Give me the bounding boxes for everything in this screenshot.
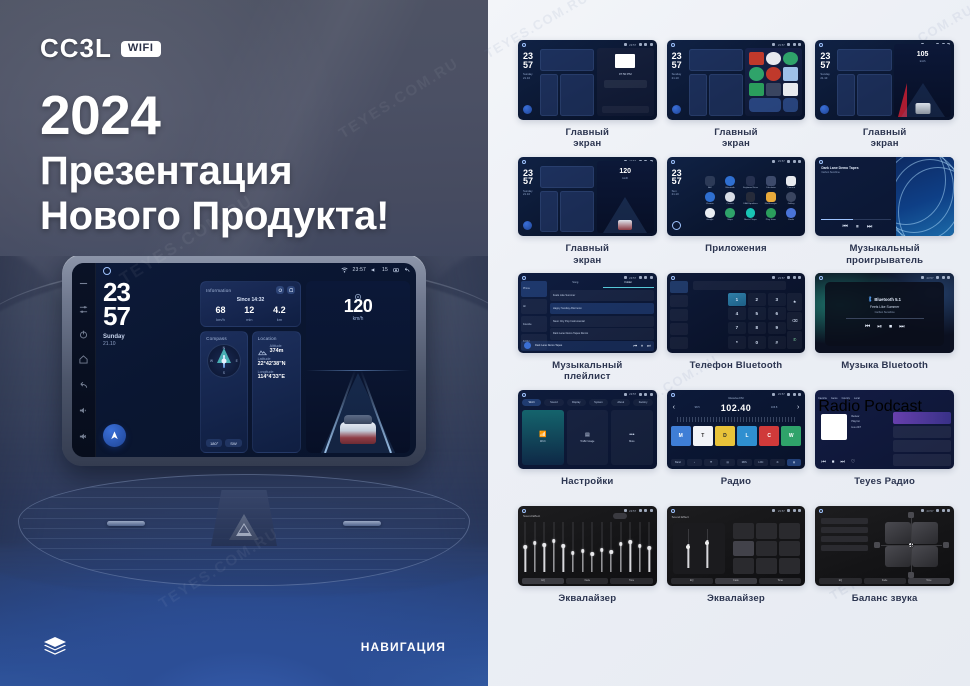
radio-bottom-bar[interactable]: Band ⌕ ☰ ▤ RDS LOC ⚙ ▦ xyxy=(671,459,802,466)
sidebar-item-favorite[interactable]: Favorite xyxy=(521,316,547,332)
home-circle-icon xyxy=(819,509,823,513)
app-tile[interactable]: FileManager xyxy=(762,192,780,205)
teyes-radio-controls[interactable]: ⏮ ⏹ ⏭ ♡ xyxy=(821,459,855,465)
eq-preset-label: Sound Effect xyxy=(672,515,689,519)
thumbnail-home-adas[interactable]: 23:57 2357 Sunday21.10 120 km/h xyxy=(518,157,657,237)
gallery-item[interactable]: 23:57 Sound Effect xyxy=(667,506,806,617)
list-item[interactable] xyxy=(893,412,951,424)
bottom-bar-button[interactable]: Band xyxy=(671,459,686,466)
thumbnail-home-adas-red[interactable]: 23:57 2357 Sunday21.10 105 km/h xyxy=(815,40,954,120)
list-icon[interactable]: ☰ xyxy=(704,459,719,466)
location-card[interactable] xyxy=(560,191,594,233)
settings-slider-icon[interactable] xyxy=(79,305,88,314)
layers-icon[interactable] xyxy=(42,636,68,658)
eq-preset-button[interactable] xyxy=(779,523,800,539)
location-card[interactable]: Location Altitude 374m xyxy=(252,331,301,454)
eq-preset-button[interactable] xyxy=(779,558,800,574)
app-shortcut[interactable] xyxy=(749,83,764,96)
list-item[interactable] xyxy=(893,426,951,438)
eq-preset-button[interactable] xyxy=(779,541,800,557)
app-tile[interactable]: Music Player xyxy=(741,208,759,221)
bluetooth-icon xyxy=(868,296,872,303)
app-label: Gallery xyxy=(788,203,795,205)
settings-card-label: Wi-Fi xyxy=(540,440,546,443)
tab-sound[interactable]: Sound xyxy=(544,399,563,406)
thumbnail-apps[interactable]: 23:57 2357 Sun21.10 AM Bluetooth Keyboar… xyxy=(667,157,806,237)
eq-preset-label: Sound Effect xyxy=(523,514,540,518)
eq-band-slider[interactable] xyxy=(581,522,584,572)
navigation-fab-button[interactable] xyxy=(820,105,829,114)
tab-eq[interactable]: EQ xyxy=(522,578,564,584)
search-icon[interactable]: ⌕ xyxy=(687,459,702,466)
settings-card-label: Traffic Usage xyxy=(580,440,594,443)
station-list[interactable] xyxy=(893,412,951,467)
app-shortcut[interactable] xyxy=(766,67,781,80)
clock-hours-minutes: 2357 xyxy=(672,169,682,186)
altitude-label: Altitude xyxy=(270,344,284,348)
radio-preset[interactable]: D xyxy=(715,426,735,446)
vent-slider-left[interactable] xyxy=(107,521,145,526)
dialpad-key[interactable]: 8 xyxy=(748,322,766,335)
eq-preset-button[interactable] xyxy=(733,541,754,557)
eq-band-slider[interactable] xyxy=(610,522,613,572)
balance-preset-left[interactable] xyxy=(821,536,868,542)
home-icon[interactable] xyxy=(79,355,88,364)
station-meta: Review Play list Live 24/7 xyxy=(851,415,887,429)
compass-heading: 180° xyxy=(206,439,222,447)
gallery-item[interactable]: Favorite Genre Country Local Radio Podca… xyxy=(815,390,954,501)
tab-eq[interactable]: EQ xyxy=(819,578,861,584)
album-art xyxy=(524,342,531,349)
compass-n: N xyxy=(223,346,225,350)
sidebar-item-settings[interactable] xyxy=(670,337,688,349)
next-track-icon[interactable]: ⏭ xyxy=(899,324,904,331)
compass-s: S xyxy=(223,371,225,375)
compass-card[interactable] xyxy=(689,74,707,116)
equalizer-tabs[interactable]: EQ Fade Tone xyxy=(522,578,653,584)
bt-song-title: Feels Like Summer xyxy=(870,305,899,309)
volume-icon xyxy=(371,267,377,273)
backspace-icon[interactable]: ⌫ xyxy=(787,312,802,330)
balance-presets[interactable] xyxy=(821,518,868,551)
app-label: AM xyxy=(708,187,711,189)
eq-band-slider[interactable] xyxy=(562,522,565,572)
playlist-now-playing-bar[interactable]: Dark Lane Demo Tapes ⏮ ⏸ ⏭ xyxy=(521,341,654,351)
clock-minutes: 57 xyxy=(103,305,195,329)
trip-stat: 4.2 km xyxy=(273,306,286,322)
star-icon[interactable]: ★ xyxy=(787,293,802,311)
navigation-fab-button[interactable] xyxy=(523,105,532,114)
thumbnail-radio[interactable]: 23:57 Receive FM ‹ 102.40 › 98.5 106.8 M… xyxy=(667,390,806,470)
dialpad-key[interactable]: 5 xyxy=(748,307,766,320)
compass-card[interactable] xyxy=(540,74,558,116)
playlist-rows[interactable]: Feels Like Summer Happy Sunday Afternoon… xyxy=(550,290,654,340)
app-shortcut[interactable] xyxy=(749,52,764,65)
thumbnail-bt-music[interactable]: 23:57 Bluetooth 5.1 Feels Like Summer Ca… xyxy=(815,273,954,353)
thumbnail-settings[interactable]: 23:57 Wi-Fi Sound Display System About F… xyxy=(518,390,657,470)
stop-icon[interactable]: ⏹ xyxy=(889,324,892,331)
car-dashboard-illustration: 23:57 15 xyxy=(0,256,488,686)
app-tile[interactable]: Maps xyxy=(721,208,739,221)
app-tile[interactable]: Radio xyxy=(782,208,800,221)
volume-down-icon[interactable] xyxy=(79,406,88,415)
app-tile[interactable]: AM xyxy=(701,176,719,189)
back-arrow-icon[interactable] xyxy=(404,267,410,273)
rds-icon[interactable]: RDS xyxy=(737,459,752,466)
volume-up-icon[interactable] xyxy=(79,432,88,441)
thumbnail-bt-phone[interactable]: 23:57 1 2 3 4 5 6 xyxy=(667,273,806,353)
thumbnail-music-player[interactable]: 23:57 Dark Lane Demo Tapes Carbon Sunshi… xyxy=(815,157,954,237)
gallery-item[interactable]: 23:57 2357 Sun21.10 AM Bluetooth Keyboar… xyxy=(667,157,806,268)
tab-fade[interactable]: Fade xyxy=(566,578,608,584)
tab-tone[interactable]: Tone xyxy=(908,578,950,584)
tab-eq[interactable]: EQ xyxy=(671,578,713,584)
information-card[interactable] xyxy=(540,166,594,188)
sidebar-item-phone[interactable]: Phone xyxy=(521,281,547,297)
gallery-item[interactable]: 23:57 Receive FM ‹ 102.40 › 98.5 106.8 M… xyxy=(667,390,806,501)
speaker-front-left xyxy=(885,522,912,543)
balance-up-button[interactable] xyxy=(908,512,914,518)
adas-car-graphic xyxy=(618,220,632,230)
adas-horizon xyxy=(306,370,410,371)
gallery-item[interactable]: 23:57 Sound Effect xyxy=(518,506,657,617)
player-controls[interactable]: ⏮ ⏸ ⏭ xyxy=(821,224,893,231)
bt-song-artist: Carbon Sunshine xyxy=(875,311,895,314)
app-tile[interactable]: Contact xyxy=(721,192,739,205)
location-card[interactable] xyxy=(857,74,891,116)
information-card[interactable] xyxy=(540,49,594,71)
app-tile[interactable]: Keyboard Drive xyxy=(741,176,759,189)
eq-band-slider[interactable] xyxy=(619,522,622,572)
dialpad[interactable]: 1 2 3 4 5 6 7 8 9 * 0 # xyxy=(728,293,786,349)
settings-card-more[interactable]: ••• More xyxy=(611,410,653,466)
dialpad-key[interactable]: 6 xyxy=(768,307,786,320)
equalizer-sliders[interactable] xyxy=(524,522,651,572)
previous-track-icon[interactable]: ⏮ xyxy=(633,343,637,348)
app-shortcuts-panel[interactable] xyxy=(745,48,802,116)
bt-transport-controls[interactable]: ⏮ ⏯ ⏹ ⏭ xyxy=(865,324,905,331)
eq-preset-button[interactable] xyxy=(733,558,754,574)
bt-progress-bar[interactable] xyxy=(846,318,924,319)
dialpad-key[interactable]: 9 xyxy=(768,322,786,335)
app-shortcut[interactable] xyxy=(749,67,764,80)
tab-fade[interactable]: Fade xyxy=(864,578,906,584)
adas-widget[interactable]: 105 km/h xyxy=(894,44,951,117)
app-label: Calculator xyxy=(766,187,776,189)
back-icon[interactable] xyxy=(672,221,681,230)
gallery-item[interactable]: 23:57 2357 Sunday21.10 105 km/h Гл xyxy=(815,40,954,151)
app-label: Keyboard Drive xyxy=(743,187,758,189)
app-tile[interactable]: Play Store xyxy=(762,208,780,221)
eq-icon[interactable]: ▤ xyxy=(720,459,735,466)
app-tile[interactable]: Google xyxy=(701,208,719,221)
radio-preset[interactable]: M xyxy=(671,426,691,446)
app-tile[interactable]: Calculator xyxy=(762,176,780,189)
information-card[interactable] xyxy=(837,49,891,71)
thumbnail-teyes-radio[interactable]: Favorite Genre Country Local Radio Podca… xyxy=(815,390,954,470)
settings-card-traffic[interactable]: ▤ Traffic Usage xyxy=(567,410,609,466)
minus-icon[interactable] xyxy=(79,279,88,288)
app-shortcut[interactable] xyxy=(783,67,798,80)
back-icon[interactable] xyxy=(79,381,88,390)
tab-system[interactable]: System xyxy=(589,399,608,406)
balance-tabs[interactable]: EQ Fade Tone xyxy=(819,578,950,584)
phone-number-field[interactable] xyxy=(693,281,786,290)
radio-presets[interactable]: M T D L C W xyxy=(671,426,802,446)
list-item[interactable]: Happy Sunday Afternoon xyxy=(550,303,654,314)
list-item[interactable] xyxy=(893,454,951,466)
volume-value: 15 xyxy=(382,267,388,273)
adas-widget[interactable]: 120 km/h xyxy=(306,281,410,453)
traffic-icon: ▤ xyxy=(585,432,590,438)
equalizer-tabs[interactable]: EQ Fade Tone xyxy=(671,578,802,584)
eq-band-slider[interactable] xyxy=(600,522,603,572)
app-shortcut[interactable] xyxy=(783,83,798,96)
eq-band-slider[interactable] xyxy=(543,522,546,572)
subtab-radio[interactable]: Radio xyxy=(818,398,860,416)
media-controls[interactable] xyxy=(604,80,647,88)
head-unit-screen[interactable]: 23:57 15 xyxy=(72,263,416,457)
sidebar-item-contacts[interactable] xyxy=(670,295,688,307)
navigation-label: НАВИГАЦИЯ xyxy=(361,640,446,654)
eq-band-slider[interactable] xyxy=(524,522,527,572)
settings-cards[interactable]: 📶 Wi-Fi ▤ Traffic Usage ••• More xyxy=(522,410,653,466)
app-shortcut[interactable] xyxy=(766,52,781,65)
media-card[interactable]: 07:50 PM xyxy=(597,48,654,116)
compass-w: W xyxy=(210,359,213,363)
list-item[interactable] xyxy=(893,440,951,452)
gallery-item[interactable]: 23:57 2357 Sunday21.10 xyxy=(667,40,806,151)
sidebar-item-all[interactable]: All xyxy=(521,299,547,315)
playlist-sidebar[interactable]: Phone All Favorite Folder xyxy=(521,281,547,350)
settings-icon[interactable]: ⚙ xyxy=(770,459,785,466)
stop-icon[interactable]: ⏹ xyxy=(832,459,835,465)
mini-status-bar: 23:57 xyxy=(772,276,801,280)
information-card[interactable]: Information Since 14:32 xyxy=(200,281,301,327)
eq-band-slider[interactable] xyxy=(591,522,594,572)
balance-pad-area[interactable] xyxy=(881,518,942,572)
next-track-icon[interactable]: ⏭ xyxy=(840,459,845,465)
gallery-item[interactable]: 23:57 Dark Lane Demo Tapes Carbon Sunshi… xyxy=(815,157,954,268)
balance-right-button[interactable] xyxy=(943,542,949,548)
headline-year: 2024 xyxy=(40,88,389,143)
vent-slider-right[interactable] xyxy=(343,521,381,526)
app-label: FileManager xyxy=(765,203,777,205)
eq-toggle[interactable] xyxy=(613,513,627,519)
dialpad-key[interactable]: 2 xyxy=(748,293,766,306)
clock-widget: 23 57 Sunday 21.10 xyxy=(103,281,195,453)
thumbnail-home-apps[interactable]: 23:57 2357 Sunday21.10 xyxy=(667,40,806,120)
app-tile[interactable]: Chrome xyxy=(701,192,719,205)
eq-band-slider[interactable] xyxy=(639,522,642,572)
list-item[interactable]: Dark Lane Demo Tapes Remix xyxy=(550,328,654,339)
tab-factory[interactable]: Factory xyxy=(633,399,652,406)
tab-wifi[interactable]: Wi-Fi xyxy=(522,399,541,406)
navigation-arrow-icon xyxy=(109,430,120,441)
favorite-icon[interactable]: ♡ xyxy=(851,459,855,465)
eq-preset-grid[interactable] xyxy=(733,523,800,574)
gallery-caption: Телефон Bluetooth xyxy=(690,360,783,384)
tab-tone[interactable]: Tone xyxy=(610,578,652,584)
play-pause-icon[interactable]: ⏯ xyxy=(877,324,882,331)
eq-preset-button[interactable] xyxy=(756,523,777,539)
product-logo: CC3L WIFI xyxy=(40,33,161,64)
radio-preset[interactable]: W xyxy=(781,426,801,446)
next-track-icon[interactable]: ⏭ xyxy=(647,343,651,348)
head-unit-bezel: 23:57 15 xyxy=(62,256,426,466)
next-station-button[interactable]: › xyxy=(797,404,799,411)
compass-card[interactable] xyxy=(837,74,855,116)
gallery-item[interactable]: 23:57 Bluetooth 5.1 Feels Like Summer Ca… xyxy=(815,273,954,384)
gallery-caption: Teyes Радио xyxy=(854,476,915,500)
app-tile[interactable]: Gallery xyxy=(782,192,800,205)
app-tile[interactable]: Bluetooth xyxy=(721,176,739,189)
dialpad-key[interactable]: 3 xyxy=(768,293,786,306)
app-shortcut[interactable] xyxy=(783,98,798,111)
longitude-value: 114°4'33"E xyxy=(258,374,295,380)
list-item[interactable]: Neon City Pop Instrumental xyxy=(550,316,654,327)
media-bottom-bar[interactable] xyxy=(602,106,649,113)
player-progress-bar[interactable] xyxy=(821,219,890,220)
compass-card[interactable]: Compass N E S W xyxy=(200,331,248,454)
play-pause-icon[interactable]: ⏸ xyxy=(641,343,643,348)
adas-icon xyxy=(354,288,362,296)
dialpad-key[interactable]: # xyxy=(768,336,786,349)
eq-band-slider[interactable] xyxy=(629,522,632,572)
balance-preset-front[interactable] xyxy=(821,518,868,524)
head-unit-status-bar: 23:57 15 xyxy=(341,267,410,273)
balance-axis-v xyxy=(911,518,912,572)
eq-preset-button[interactable] xyxy=(756,541,777,557)
app-label: Play Store xyxy=(766,219,776,221)
gallery-item[interactable]: 23:57 1 2 3 4 5 6 xyxy=(667,273,806,384)
call-icon[interactable]: ✆ xyxy=(787,331,802,349)
mini-status-bar: 23:57 xyxy=(921,276,950,280)
location-card[interactable] xyxy=(709,74,743,116)
balance-left-button[interactable] xyxy=(874,542,880,548)
eq-band-slider[interactable] xyxy=(648,522,651,572)
home-circle-icon[interactable] xyxy=(103,267,111,275)
eq-band-slider[interactable] xyxy=(553,522,556,572)
dialpad-key[interactable]: 4 xyxy=(728,307,746,320)
mini-status-bar: 23:57 xyxy=(772,43,801,47)
clock-hours-minutes: 2357 xyxy=(672,52,682,69)
thumbnail-equalizer-simple[interactable]: 23:57 Sound Effect xyxy=(667,506,806,586)
navigation-fab-button[interactable] xyxy=(523,221,532,230)
compass-card[interactable] xyxy=(540,191,558,233)
balance-preset-right[interactable] xyxy=(821,545,868,551)
eq-preset-button[interactable] xyxy=(733,523,754,539)
thumbnail-equalizer-bars[interactable]: 23:57 Sound Effect xyxy=(518,506,657,586)
loc-icon[interactable]: LOC xyxy=(754,459,769,466)
speaker-rear-right xyxy=(912,546,939,567)
gallery-item[interactable]: 23:57 Wi-Fi Sound Display System About F… xyxy=(518,390,657,501)
tab-fade[interactable]: Fade xyxy=(715,578,757,584)
altitude-value: 374m xyxy=(270,348,284,354)
clock-subtext: Sunday21.10 xyxy=(820,73,830,80)
gallery-caption: Главный экран xyxy=(566,127,610,151)
navigation-fab-button[interactable] xyxy=(672,105,681,114)
head-unit-side-rail[interactable] xyxy=(72,263,96,457)
radio-tuning-scale[interactable] xyxy=(677,417,796,422)
balance-preset-rear[interactable] xyxy=(821,527,868,533)
information-card[interactable] xyxy=(689,49,743,71)
eq-preset-button[interactable] xyxy=(756,558,777,574)
teyes-radio-subtabs[interactable]: Radio Podcast xyxy=(818,404,951,410)
previous-track-icon[interactable]: ⏮ xyxy=(865,324,870,331)
dialpad-key[interactable]: 0 xyxy=(748,336,766,349)
gallery-item[interactable]: 23:57 xyxy=(815,506,954,617)
location-card[interactable] xyxy=(560,74,594,116)
gallery-caption: Главный экран xyxy=(714,127,758,151)
thumbnail-playlist[interactable]: 23:57 Phone All Favorite Folder Song Fol… xyxy=(518,273,657,353)
adas-speed-unit: km/h xyxy=(894,60,951,63)
tab-about[interactable]: About xyxy=(611,399,630,406)
dialpad-key[interactable]: 1 xyxy=(728,293,746,306)
tab-tone[interactable]: Tone xyxy=(759,578,801,584)
settings-card-wifi[interactable]: 📶 Wi-Fi xyxy=(522,410,564,466)
gallery-item[interactable]: 23:57 2357 Sunday21.10 120 km/h Главный … xyxy=(518,157,657,268)
gallery-item[interactable]: 23:57 Phone All Favorite Folder Song Fol… xyxy=(518,273,657,384)
expand-icon[interactable] xyxy=(287,286,295,294)
radio-preset[interactable]: T xyxy=(693,426,713,446)
list-item[interactable]: Feels Like Summer xyxy=(550,290,654,301)
app-tile[interactable]: DAB Equalizer xyxy=(741,192,759,205)
thumbnail-home-media[interactable]: 23:57 2357 Sunday21.10 07:50 PM xyxy=(518,40,657,120)
tab-folder[interactable]: Folder xyxy=(603,281,654,288)
settings-tabs[interactable]: Wi-Fi Sound Display System About Factory xyxy=(522,399,653,406)
navigation-fab-button[interactable] xyxy=(103,424,126,447)
phone-action-column[interactable]: ★ ⌫ ✆ xyxy=(787,293,802,349)
compass-dial: N E S W xyxy=(207,344,241,378)
dialpad-key[interactable]: 7 xyxy=(728,322,746,335)
adas-speed-unit: km/h xyxy=(597,177,654,180)
app-shortcut[interactable] xyxy=(783,52,798,65)
sidebar-label: Favorite xyxy=(523,323,532,326)
radio-preset[interactable]: L xyxy=(737,426,757,446)
next-track-icon[interactable]: ⏭ xyxy=(867,224,872,231)
radio-preset[interactable]: C xyxy=(759,426,779,446)
apps-icon[interactable]: ▦ xyxy=(787,459,802,466)
phone-sidebar[interactable] xyxy=(670,281,688,349)
previous-track-icon[interactable]: ⏮ xyxy=(842,224,847,231)
sidebar-item-dialpad[interactable] xyxy=(670,281,688,293)
play-pause-icon[interactable]: ⏸ xyxy=(856,224,859,231)
eq-band-slider[interactable] xyxy=(572,522,575,572)
gallery-item[interactable]: 23:57 2357 Sunday21.10 07:50 PM Главный … xyxy=(518,40,657,151)
sidebar-item-history[interactable] xyxy=(670,323,688,335)
eq-slider-panel[interactable] xyxy=(673,523,726,574)
gallery-caption: Главный экран xyxy=(566,243,610,267)
eq-band-slider[interactable] xyxy=(534,522,537,572)
power-icon[interactable] xyxy=(79,330,88,339)
refresh-icon[interactable] xyxy=(276,286,284,294)
thumbnail-sound-balance[interactable]: 23:57 xyxy=(815,506,954,586)
sidebar-item-search[interactable] xyxy=(670,309,688,321)
app-label: Chrome xyxy=(706,203,714,205)
tab-song[interactable]: Song xyxy=(550,281,601,288)
app-drawer[interactable]: AM Bluetooth Keyboard Drive Calculator C… xyxy=(701,166,801,233)
previous-track-icon[interactable]: ⏮ xyxy=(821,459,826,465)
playlist-tabs[interactable]: Song Folder xyxy=(550,281,654,288)
app-shortcut-wide[interactable] xyxy=(749,98,781,111)
adas-widget[interactable]: 120 km/h xyxy=(597,161,654,234)
app-tile[interactable]: Camera xyxy=(782,176,800,189)
dialpad-key[interactable]: * xyxy=(728,336,746,349)
camera-icon[interactable] xyxy=(393,267,399,273)
tab-display[interactable]: Display xyxy=(567,399,586,406)
app-shortcut[interactable] xyxy=(766,83,781,96)
